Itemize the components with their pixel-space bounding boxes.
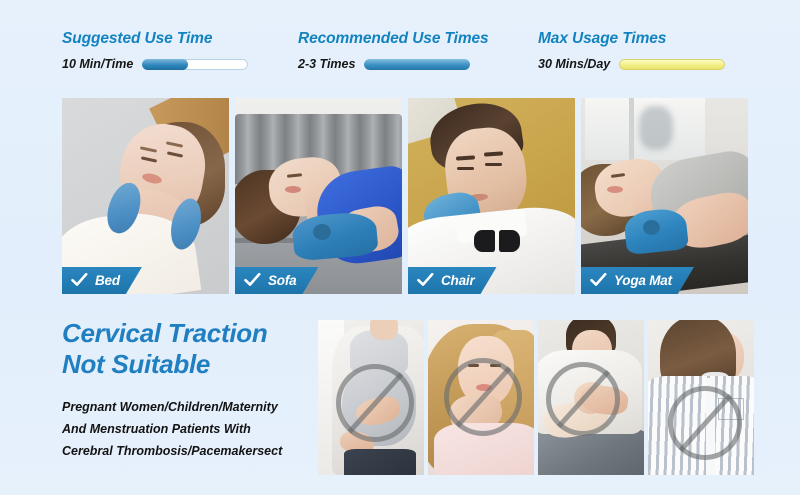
photo-eye — [485, 163, 502, 166]
not-suitable-photo-child — [428, 320, 534, 475]
progress-bar-fill — [619, 59, 725, 70]
photo-window-frame — [629, 98, 634, 160]
usage-scenario-cards: Bed — [0, 98, 800, 294]
metric-suggested-use-time: Suggested Use Time 10 Min/Time — [62, 30, 248, 71]
scenario-label-text: Sofa — [268, 273, 296, 288]
scenario-photo-yoga-mat — [581, 98, 748, 294]
scenario-photo-bed — [62, 98, 229, 294]
check-icon — [71, 273, 88, 288]
not-suitable-section: Cervical Traction Not Suitable Pregnant … — [62, 318, 282, 462]
check-icon — [590, 273, 607, 288]
infographic-page: Suggested Use Time 10 Min/Time Recommend… — [0, 0, 800, 495]
progress-bar-fill — [364, 59, 470, 70]
prohibition-icon — [336, 364, 414, 442]
scenario-label-yoga-mat: Yoga Mat — [581, 267, 694, 294]
not-suitable-body-line-2: And Menstruation Patients With — [62, 418, 282, 440]
metric-value: 30 Mins/Day — [538, 57, 610, 71]
metric-value-row: 30 Mins/Day — [538, 57, 725, 71]
metric-max-usage-times: Max Usage Times 30 Mins/Day — [538, 30, 725, 71]
not-suitable-title: Cervical Traction Not Suitable — [62, 318, 282, 380]
scenario-card-sofa: Sofa — [235, 98, 402, 294]
progress-bar-recommended-use-times — [364, 59, 470, 70]
metric-title: Suggested Use Time — [62, 30, 248, 48]
not-suitable-body-line-3: Cerebral Thrombosis/Pacemakersect — [62, 440, 282, 462]
metric-value-row: 2-3 Times — [298, 57, 489, 71]
not-suitable-photo-pregnant-woman — [318, 320, 424, 475]
not-suitable-title-line-1: Cervical Traction — [62, 318, 282, 349]
not-suitable-body-line-1: Pregnant Women/Children/Maternity — [62, 396, 282, 418]
scenario-label-text: Bed — [95, 273, 120, 288]
scenario-card-yoga-mat: Yoga Mat — [581, 98, 748, 294]
metric-value-row: 10 Min/Time — [62, 57, 248, 71]
metric-title: Recommended Use Times — [298, 30, 489, 48]
scenario-card-chair: Chair — [408, 98, 575, 294]
check-icon — [244, 273, 261, 288]
photo-pants — [344, 449, 416, 475]
metric-value: 10 Min/Time — [62, 57, 133, 71]
progress-bar-suggested-use-time — [142, 59, 248, 70]
not-suitable-photo-mother-with-baby — [538, 320, 644, 475]
progress-bar-fill — [142, 59, 188, 70]
prohibition-icon — [444, 358, 522, 436]
photo-background-blur — [639, 106, 673, 150]
prohibition-icon — [546, 362, 620, 436]
check-icon — [417, 273, 434, 288]
not-suitable-photo-strip — [318, 320, 754, 475]
photo-eye — [457, 167, 474, 170]
photo-lips — [607, 186, 623, 193]
scenario-label-text: Yoga Mat — [614, 273, 672, 288]
photo-lips — [285, 186, 301, 193]
photo-bow-tie — [474, 230, 520, 252]
metric-title: Max Usage Times — [538, 30, 725, 48]
metric-recommended-use-times: Recommended Use Times 2-3 Times — [298, 30, 489, 71]
traction-device-hole — [313, 224, 331, 240]
prohibition-icon — [668, 386, 742, 460]
progress-bar-max-usage-times — [619, 59, 725, 70]
scenario-photo-sofa — [235, 98, 402, 294]
not-suitable-body: Pregnant Women/Children/Maternity And Me… — [62, 396, 282, 462]
photo-neck — [370, 320, 398, 340]
not-suitable-title-line-2: Not Suitable — [62, 349, 282, 380]
traction-device-hole — [643, 220, 660, 235]
scenario-label-text: Chair — [441, 273, 475, 288]
metrics-row: Suggested Use Time 10 Min/Time Recommend… — [0, 30, 800, 90]
scenario-card-bed: Bed — [62, 98, 229, 294]
scenario-photo-chair — [408, 98, 575, 294]
metric-value: 2-3 Times — [298, 57, 355, 71]
not-suitable-photo-woman-striped-shirt — [648, 320, 754, 475]
